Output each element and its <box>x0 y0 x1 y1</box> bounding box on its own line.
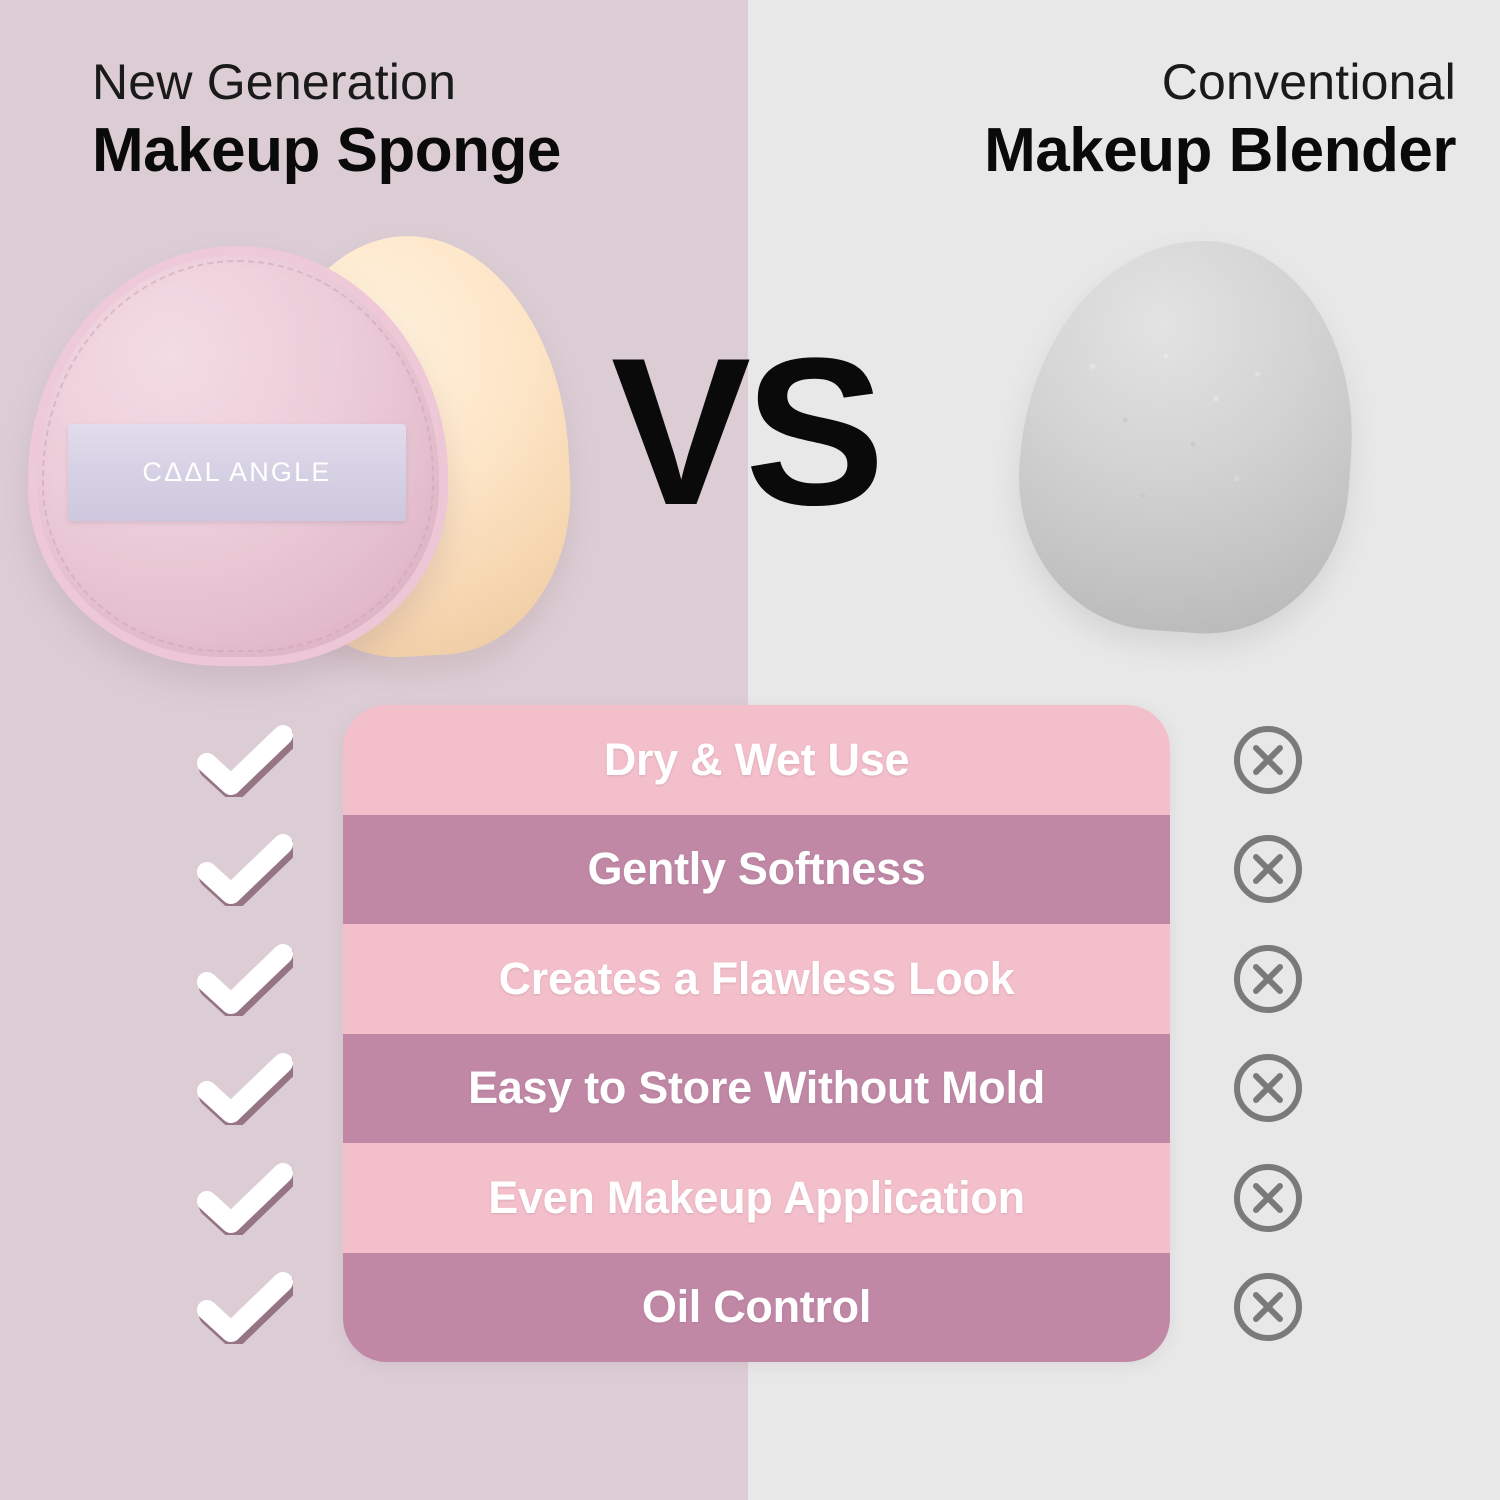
feature-label: Dry & Wet Use <box>604 734 909 786</box>
feature-label: Oil Control <box>642 1281 871 1333</box>
check-cell <box>185 705 305 815</box>
left-eyebrow-text: New Generation <box>92 54 752 110</box>
cross-circle-icon <box>1231 942 1305 1016</box>
right-product-image <box>1022 240 1372 640</box>
check-icon <box>197 832 293 906</box>
feature-row: Gently Softness <box>343 815 1170 925</box>
feature-label: Creates a Flawless Look <box>499 953 1015 1005</box>
right-title-text: Makeup Blender <box>796 114 1456 187</box>
check-cell <box>185 815 305 925</box>
left-product-image: CΔΔL ANGLE <box>18 222 598 677</box>
grey-makeup-blender-shape <box>1009 229 1366 643</box>
right-column-heading: Conventional Makeup Blender <box>796 54 1500 187</box>
cross-cell <box>1208 815 1328 925</box>
check-icon <box>197 723 293 797</box>
check-cell <box>185 924 305 1034</box>
feature-label: Gently Softness <box>587 843 925 895</box>
versus-label: VS <box>585 322 905 542</box>
sponge-texture-overlay <box>1009 229 1366 643</box>
cross-circle-icon <box>1231 1051 1305 1125</box>
check-icon <box>197 1270 293 1344</box>
right-eyebrow-text: Conventional <box>796 54 1456 110</box>
cross-circle-icon <box>1231 832 1305 906</box>
cross-marks-column <box>1208 705 1328 1362</box>
feature-list-panel: Dry & Wet UseGently SoftnessCreates a Fl… <box>343 705 1170 1362</box>
feature-row: Easy to Store Without Mold <box>343 1034 1170 1144</box>
feature-label: Even Makeup Application <box>488 1172 1025 1224</box>
cross-circle-icon <box>1231 723 1305 797</box>
check-icon <box>197 942 293 1016</box>
feature-label: Easy to Store Without Mold <box>468 1062 1045 1114</box>
feature-row: Dry & Wet Use <box>343 705 1170 815</box>
product-comparison-infographic: New Generation Makeup Sponge Conventiona… <box>0 0 1500 1500</box>
cross-circle-icon <box>1231 1161 1305 1235</box>
feature-row: Oil Control <box>343 1253 1170 1363</box>
cross-cell <box>1208 1143 1328 1253</box>
cross-circle-icon <box>1231 1270 1305 1344</box>
check-marks-column <box>185 705 305 1362</box>
feature-row: Creates a Flawless Look <box>343 924 1170 1034</box>
brand-ribbon-label: CΔΔL ANGLE <box>68 424 406 521</box>
cross-cell <box>1208 705 1328 815</box>
check-icon <box>197 1051 293 1125</box>
check-icon <box>197 1161 293 1235</box>
check-cell <box>185 1253 305 1363</box>
check-cell <box>185 1143 305 1253</box>
cross-cell <box>1208 1253 1328 1363</box>
cross-cell <box>1208 1034 1328 1144</box>
check-cell <box>185 1034 305 1144</box>
cross-cell <box>1208 924 1328 1034</box>
feature-row: Even Makeup Application <box>343 1143 1170 1253</box>
left-column-heading: New Generation Makeup Sponge <box>44 54 752 187</box>
left-title-text: Makeup Sponge <box>92 114 752 187</box>
brand-name-text: CΔΔL ANGLE <box>142 457 331 488</box>
